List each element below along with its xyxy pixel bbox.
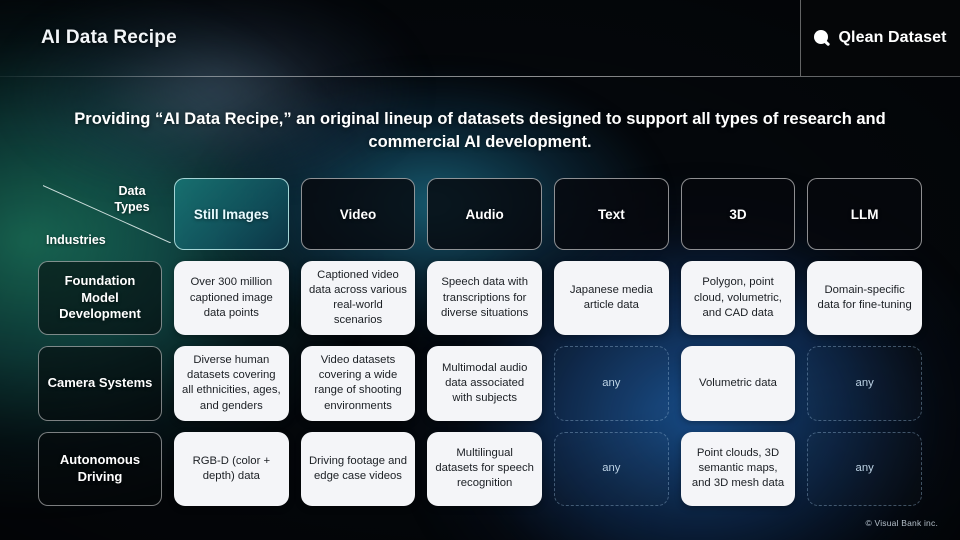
matrix-cell-r0-c1[interactable]: Captioned video data across various real… [301,261,416,335]
header-divider [0,76,960,77]
column-header-4[interactable]: 3D [681,178,796,250]
matrix-cell-r2-c3[interactable]: any [554,432,669,506]
matrix-cell-r2-c2[interactable]: Multilingual datasets for speech recogni… [427,432,542,506]
column-header-2[interactable]: Audio [427,178,542,250]
row-header-2[interactable]: Autonomous Driving [38,432,162,506]
data-recipe-matrix: Data Types Industries Still ImagesVideoA… [38,178,922,506]
matrix-cell-r1-c2[interactable]: Multimodal audio data associated with su… [427,346,542,420]
row-header-0[interactable]: Foundation Model Development [38,261,162,335]
brand-logo: Qlean Dataset [800,0,960,76]
matrix-cell-r2-c4[interactable]: Point clouds, 3D semantic maps, and 3D m… [681,432,796,506]
magnifier-icon [814,30,831,47]
brand-name: Qlean Dataset [838,29,946,47]
matrix-cell-r0-c2[interactable]: Speech data with transcriptions for dive… [427,261,542,335]
matrix-cell-r1-c4[interactable]: Volumetric data [681,346,796,420]
column-header-3[interactable]: Text [554,178,669,250]
row-header-1[interactable]: Camera Systems [38,346,162,420]
header-bar: AI Data Recipe Qlean Dataset [0,0,960,77]
matrix-cell-r0-c5[interactable]: Domain-specific data for fine-tuning [807,261,922,335]
columns-axis-label-line2: Types [114,200,149,214]
matrix-cell-r2-c0[interactable]: RGB-D (color + depth) data [174,432,289,506]
matrix-cell-r0-c3[interactable]: Japanese media article data [554,261,669,335]
page-title: AI Data Recipe [41,27,177,49]
slide-subtitle: Providing “AI Data Recipe,” an original … [50,108,910,155]
matrix-cell-r1-c3[interactable]: any [554,346,669,420]
footer-copyright: © Visual Bank inc. [865,518,938,528]
column-header-5[interactable]: LLM [807,178,922,250]
rows-axis-label: Industries [46,233,106,247]
column-header-0[interactable]: Still Images [174,178,289,250]
matrix-cell-r1-c5[interactable]: any [807,346,922,420]
matrix-cell-r2-c1[interactable]: Driving footage and edge case videos [301,432,416,506]
columns-axis-label-line1: Data [118,184,145,198]
matrix-cell-r1-c0[interactable]: Diverse human datasets covering all ethn… [174,346,289,420]
column-header-1[interactable]: Video [301,178,416,250]
matrix-cell-r2-c5[interactable]: any [807,432,922,506]
matrix-cell-r0-c4[interactable]: Polygon, point cloud, volumetric, and CA… [681,261,796,335]
columns-axis-label: Data Types [100,184,164,215]
matrix-corner-header: Data Types Industries [38,178,162,250]
matrix-cell-r0-c0[interactable]: Over 300 million captioned image data po… [174,261,289,335]
matrix-cell-r1-c1[interactable]: Video datasets covering a wide range of … [301,346,416,420]
